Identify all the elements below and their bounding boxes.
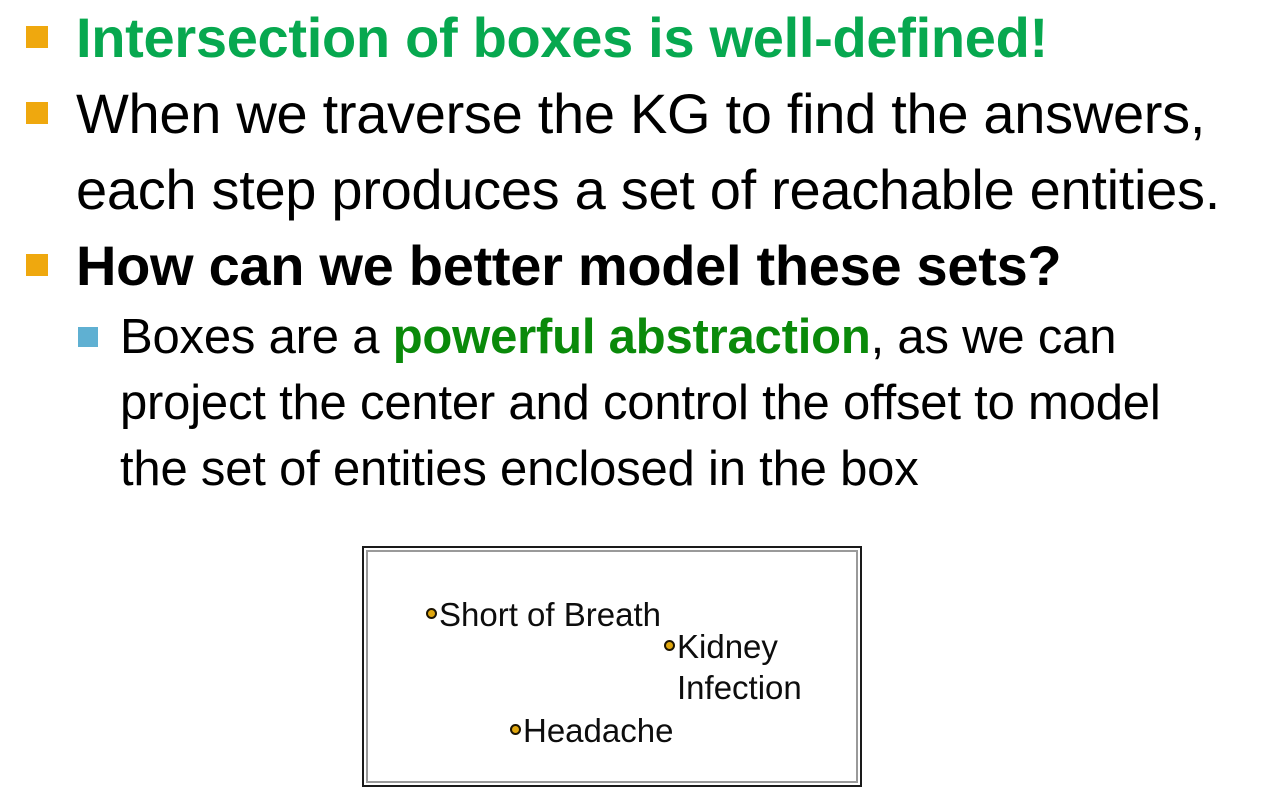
entity-dot-icon	[426, 608, 437, 619]
entity-short-of-breath: Short of Breath	[426, 594, 661, 635]
bullet-4-line-1-post: , as we can	[871, 310, 1117, 364]
bullet-2-line-2: each step produces a set of reachable en…	[76, 152, 1220, 228]
entity-headache: Headache	[510, 710, 673, 751]
orange-square-bullet-icon	[26, 102, 48, 124]
bullet-4-highlight: powerful abstraction	[393, 310, 871, 364]
bullet-2-line-1: When we traverse the KG to find the answ…	[76, 76, 1205, 152]
bullet-list: Intersection of boxes is well-defined! W…	[0, 0, 1282, 502]
entity-kidney-infection: Kidney Infection	[664, 626, 802, 708]
bullet-item-4: Boxes are a powerful abstraction, as we …	[0, 304, 1282, 370]
bullet-item-2-continuation: each step produces a set of reachable en…	[0, 152, 1282, 228]
bullet-item-1: Intersection of boxes is well-defined!	[0, 0, 1282, 76]
bullet-4-line-1-pre: Boxes are a	[120, 310, 393, 364]
entity-label: Kidney Infection	[677, 626, 802, 708]
box-inner-border: Short of Breath Kidney Infection Headach…	[366, 550, 858, 783]
bullet-indent-spacer	[78, 436, 98, 437]
bullet-4-line-3: the set of entities enclosed in the box	[120, 436, 919, 502]
bullet-item-2: When we traverse the KG to find the answ…	[0, 76, 1282, 152]
entity-label: Headache	[523, 710, 673, 751]
bullet-item-3: How can we better model these sets?	[0, 228, 1282, 304]
entity-dot-icon	[664, 640, 675, 651]
entity-dot-icon	[510, 724, 521, 735]
box-embedding-diagram: Short of Breath Kidney Infection Headach…	[362, 546, 862, 787]
bullet-item-4-continuation-1: project the center and control the offse…	[0, 370, 1282, 436]
bullet-3-text: How can we better model these sets?	[76, 228, 1061, 304]
entity-label: Short of Breath	[439, 594, 661, 635]
bullet-4-line-1: Boxes are a powerful abstraction, as we …	[120, 304, 1116, 370]
bullet-indent-spacer	[26, 152, 48, 153]
bullet-4-line-2: project the center and control the offse…	[120, 370, 1161, 436]
bullet-indent-spacer	[78, 370, 98, 371]
bullet-item-4-continuation-2: the set of entities enclosed in the box	[0, 436, 1282, 502]
blue-square-bullet-icon	[78, 327, 98, 347]
orange-square-bullet-icon	[26, 254, 48, 276]
slide-canvas: Intersection of boxes is well-defined! W…	[0, 0, 1282, 808]
orange-square-bullet-icon	[26, 26, 48, 48]
bullet-1-text: Intersection of boxes is well-defined!	[76, 0, 1048, 76]
